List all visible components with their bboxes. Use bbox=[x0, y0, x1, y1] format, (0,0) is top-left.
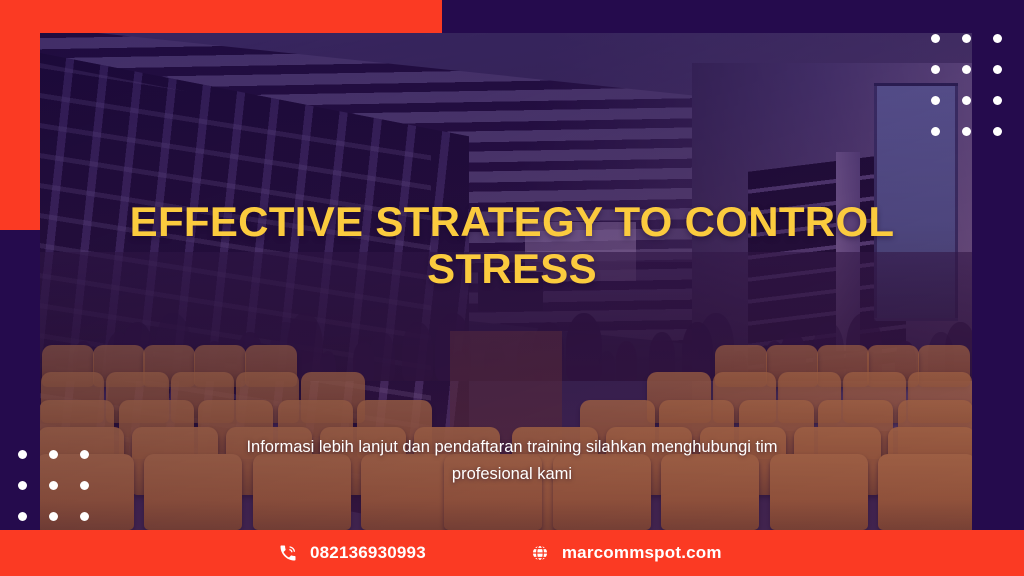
contact-phone[interactable]: 082136930993 bbox=[278, 543, 426, 563]
accent-bar-top bbox=[0, 0, 442, 34]
contact-website-value: marcommspot.com bbox=[562, 543, 722, 563]
phone-icon bbox=[278, 543, 298, 563]
decor-dot bbox=[931, 65, 940, 74]
decor-dot bbox=[931, 96, 940, 105]
page-title: EFFECTIVE STRATEGY TO CONTROL STRESS bbox=[122, 198, 902, 292]
decor-dot bbox=[80, 450, 89, 459]
decor-dot bbox=[931, 127, 940, 136]
contact-phone-value: 082136930993 bbox=[310, 543, 426, 563]
decor-dot bbox=[993, 127, 1002, 136]
decor-dot bbox=[993, 34, 1002, 43]
globe-icon bbox=[530, 543, 550, 563]
decor-dot bbox=[80, 481, 89, 490]
decor-dot bbox=[49, 481, 58, 490]
decor-dot bbox=[49, 450, 58, 459]
decor-dot bbox=[962, 34, 971, 43]
decor-dot bbox=[80, 512, 89, 521]
decor-dot bbox=[962, 127, 971, 136]
dot-grid-top-right bbox=[931, 34, 1002, 136]
banner-subtitle: Informasi lebih lanjut dan pendaftaran t… bbox=[232, 434, 792, 488]
decor-dot bbox=[18, 481, 27, 490]
decor-dot bbox=[49, 512, 58, 521]
decor-dot bbox=[993, 96, 1002, 105]
contact-bar: 082136930993 marcommspot.com bbox=[0, 530, 1024, 576]
decor-dot bbox=[18, 512, 27, 521]
decor-dot bbox=[993, 65, 1002, 74]
decor-dot bbox=[962, 65, 971, 74]
decor-dot bbox=[18, 450, 27, 459]
contact-website[interactable]: marcommspot.com bbox=[530, 543, 722, 563]
accent-bar-left bbox=[0, 0, 40, 230]
decor-dot bbox=[931, 34, 940, 43]
decor-dot bbox=[962, 96, 971, 105]
promo-banner: EFFECTIVE STRATEGY TO CONTROL STRESS Inf… bbox=[0, 0, 1024, 576]
